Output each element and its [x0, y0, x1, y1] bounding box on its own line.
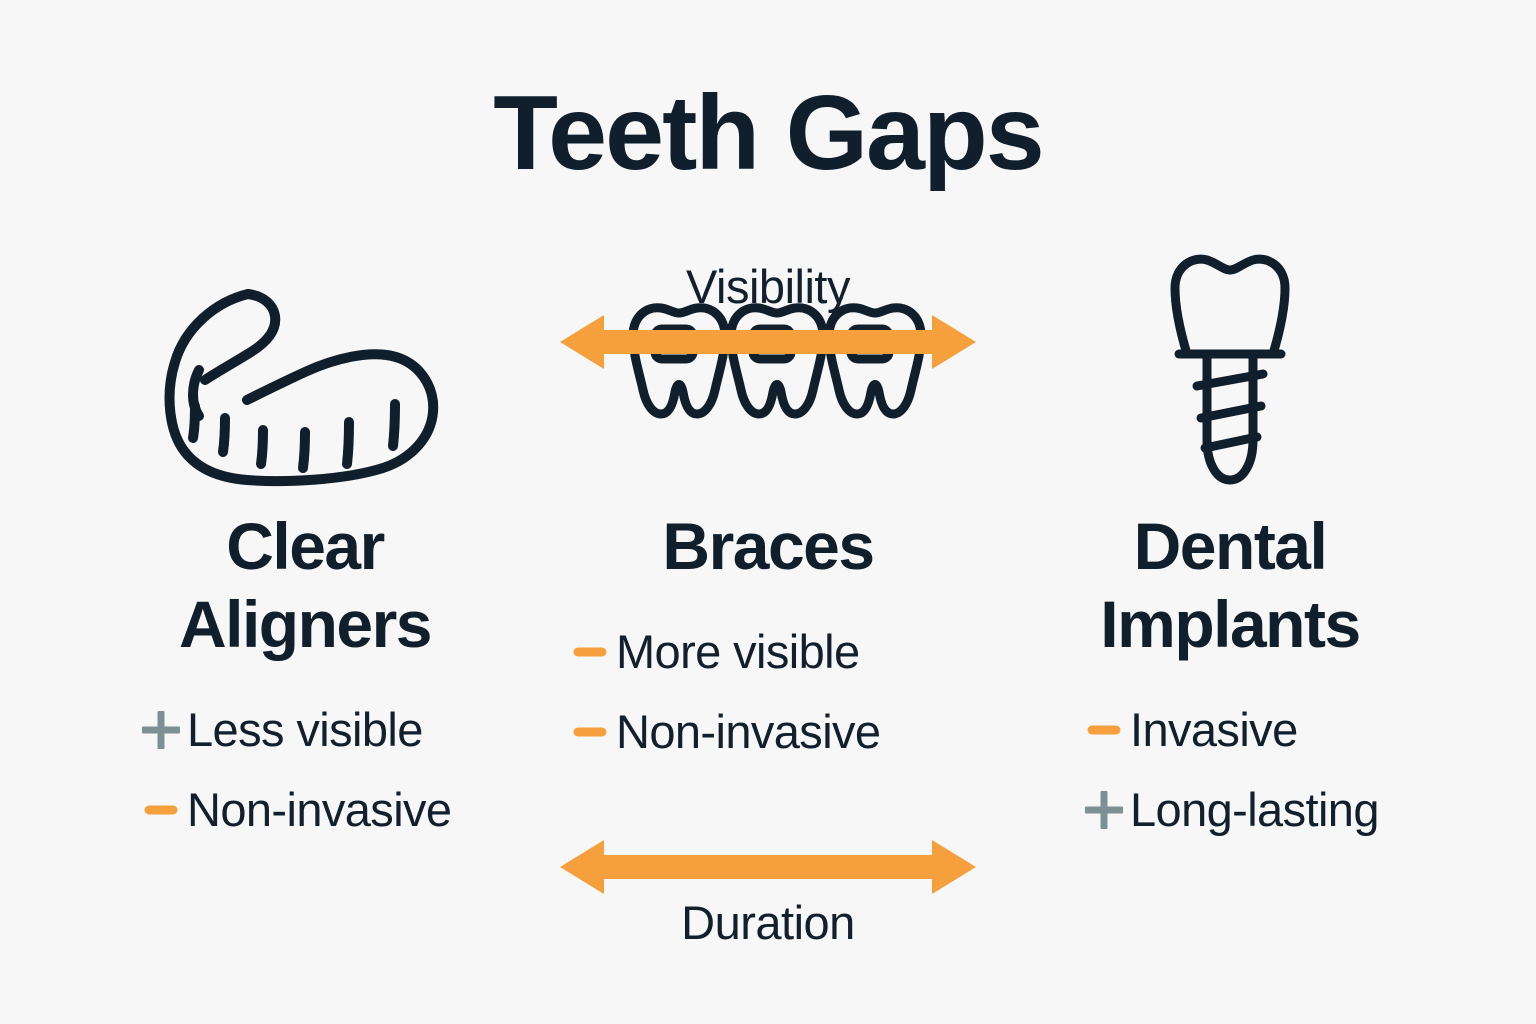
feature-item: Non-invasive	[135, 770, 515, 850]
feature-item: Less visible	[135, 690, 515, 770]
feature-list-clear-aligners: Less visible Non-invasive	[135, 690, 515, 850]
icon-wrap-clear-aligners	[95, 230, 515, 490]
column-clear-aligners: Clear Aligners Less visible Non-invasive	[95, 230, 515, 850]
minus-marker-icon	[564, 629, 616, 675]
plus-marker-icon	[1078, 787, 1130, 833]
column-heading-braces: Braces	[558, 508, 978, 586]
icon-wrap-dental-implants	[1020, 230, 1440, 490]
feature-label: More visible	[616, 628, 860, 675]
clear-aligner-tray-icon	[155, 280, 455, 490]
visibility-arrow-label: Visibility	[558, 262, 978, 311]
feature-item: Invasive	[1078, 690, 1440, 770]
duration-arrow-label: Duration	[558, 898, 978, 947]
feature-label: Long-lasting	[1130, 786, 1379, 833]
heading-line-2: Aligners	[95, 586, 515, 664]
feature-label: Invasive	[1130, 706, 1298, 753]
column-heading-dental-implants: Dental Implants	[1020, 508, 1440, 664]
plus-marker-icon	[135, 707, 187, 753]
infographic-canvas: Teeth Gaps Clear Aligners	[0, 0, 1536, 1024]
column-dental-implants: Dental Implants Invasive Long-lasting	[1020, 230, 1440, 850]
feature-list-braces: More visible Non-invasive	[564, 612, 978, 772]
double-arrow-icon	[558, 311, 978, 373]
dental-implant-icon	[1155, 252, 1305, 490]
minus-marker-icon	[564, 709, 616, 755]
feature-item: More visible	[564, 612, 978, 692]
heading-line-1: Clear	[95, 508, 515, 586]
feature-item: Long-lasting	[1078, 770, 1440, 850]
duration-arrow-block: Duration	[558, 836, 978, 947]
visibility-arrow-block: Visibility	[558, 262, 978, 373]
double-arrow-icon	[558, 836, 978, 898]
feature-label: Non-invasive	[187, 786, 451, 833]
column-heading-clear-aligners: Clear Aligners	[95, 508, 515, 664]
minus-marker-icon	[1078, 707, 1130, 753]
feature-label: Less visible	[187, 706, 423, 753]
minus-marker-icon	[135, 787, 187, 833]
heading-line-1: Dental	[1020, 508, 1440, 586]
heading-line-1: Braces	[558, 508, 978, 586]
feature-label: Non-invasive	[616, 708, 880, 755]
page-title: Teeth Gaps	[0, 78, 1536, 189]
heading-line-2: Implants	[1020, 586, 1440, 664]
feature-item: Non-invasive	[564, 692, 978, 772]
feature-list-dental-implants: Invasive Long-lasting	[1078, 690, 1440, 850]
